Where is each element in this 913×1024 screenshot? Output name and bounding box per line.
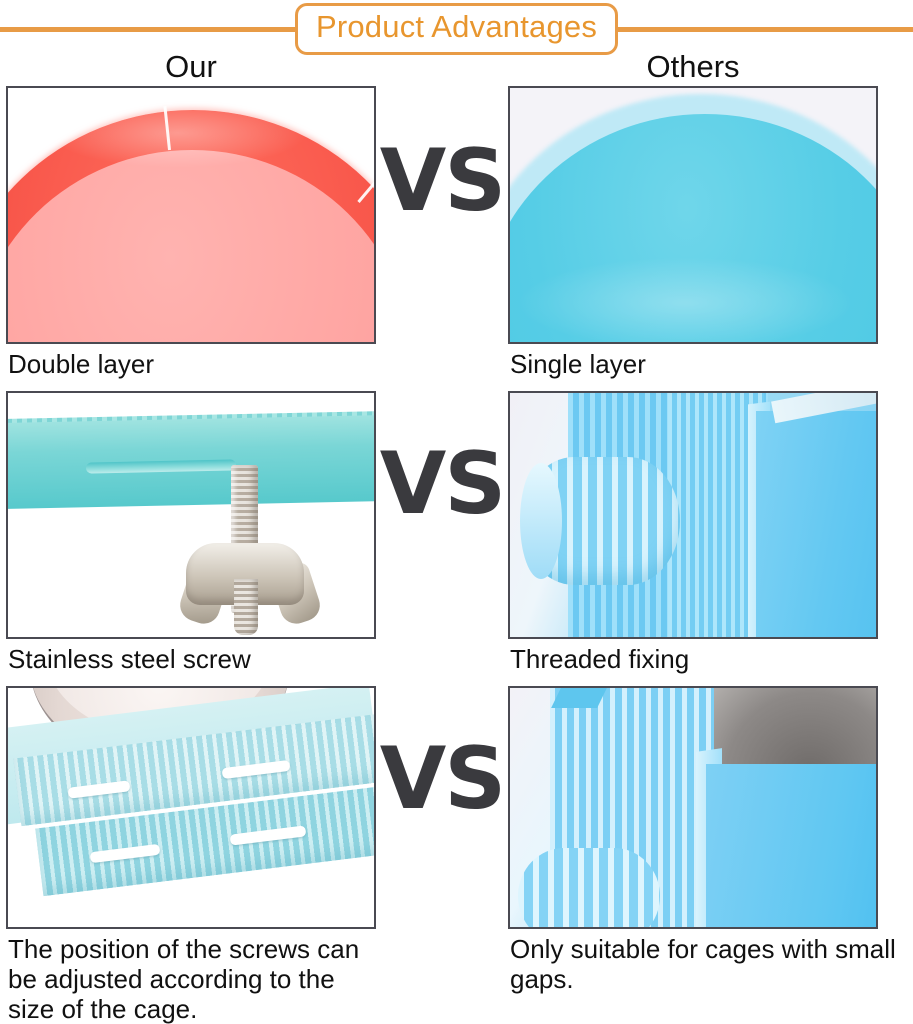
vs-separator-row2: VS [376, 441, 508, 527]
cyan-bowl-illustration [510, 88, 876, 342]
caption-our-row3: The position of the screws can be adjust… [8, 934, 388, 1024]
holder-corner [551, 688, 607, 708]
banner-rule-left [0, 27, 297, 32]
caption-others-row1: Single layer [510, 349, 905, 379]
plastic-knob-illustration [510, 393, 876, 637]
caption-others-row3: Only suitable for cages with small gaps. [510, 934, 905, 994]
our-photo-steel-screw [6, 391, 376, 639]
holder-knob [518, 848, 660, 929]
banner-rule-right [616, 27, 913, 32]
our-photo-double-layer [6, 86, 376, 344]
our-photo-adjustable-brackets [6, 686, 376, 929]
page-title: Product Advantages [316, 8, 597, 46]
vs-separator-row3: VS [376, 736, 508, 822]
steel-screw-illustration [8, 393, 374, 637]
screw-shaft-lower [234, 579, 258, 635]
highlight-glow [48, 98, 308, 168]
vs-separator-row1: VS [376, 138, 508, 224]
caption-others-row2: Threaded fixing [510, 644, 905, 674]
plastic-slab [756, 411, 878, 639]
others-photo-small-gaps [508, 686, 878, 929]
pink-bowl-illustration [8, 88, 374, 342]
knob-cap [520, 463, 562, 579]
column-header-our: Our [6, 50, 376, 84]
blue-holder-illustration [510, 688, 876, 927]
others-photo-single-layer [508, 86, 878, 344]
others-photo-threaded-fixing [508, 391, 878, 639]
caption-our-row1: Double layer [8, 349, 388, 379]
adjustable-brackets-illustration [8, 688, 374, 927]
title-box: Product Advantages [295, 3, 618, 55]
bowl-sheen [520, 258, 850, 344]
holder-wall [706, 764, 878, 929]
caption-our-row2: Stainless steel screw [8, 644, 388, 674]
column-header-others: Others [508, 50, 878, 84]
